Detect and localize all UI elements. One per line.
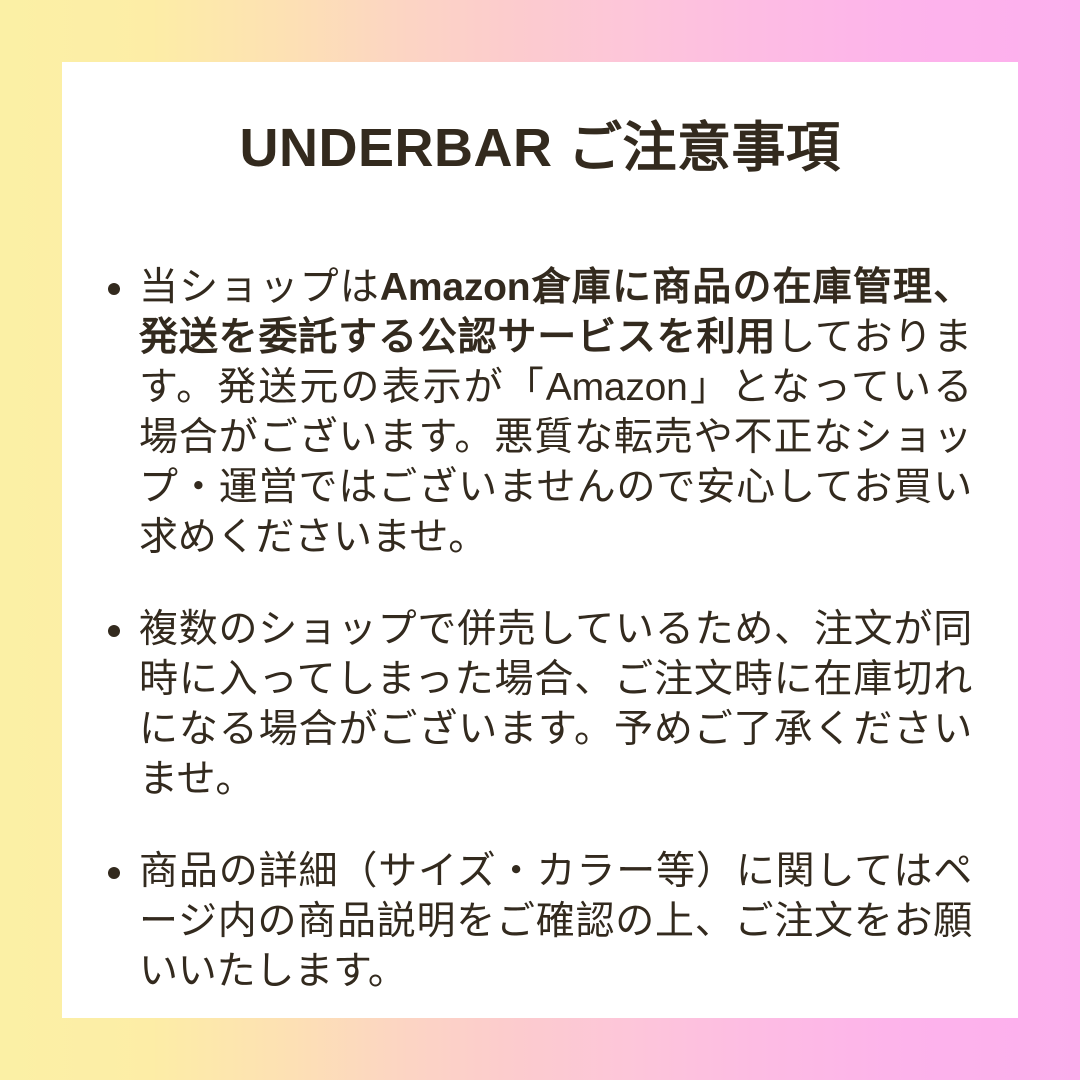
notice-card: UNDERBAR ご注意事項 当ショップはAmazon倉庫に商品の在庫管理、発送…	[62, 62, 1018, 1018]
bullet-dot-icon	[108, 283, 120, 295]
notice-text: 商品の詳細（サイズ・カラー等）に関してはページ内の商品説明をご確認の上、ご注文を…	[139, 847, 972, 997]
list-item: 複数のショップで併売しているため、注文が同時に入ってしまった場合、ご注文時に在庫…	[108, 605, 972, 805]
notice-text: 当ショップはAmazon倉庫に商品の在庫管理、発送を委託する公認サービスを利用し…	[139, 263, 972, 563]
page-title: UNDERBAR ご注意事項	[62, 62, 1018, 178]
list-item: 当ショップはAmazon倉庫に商品の在庫管理、発送を委託する公認サービスを利用し…	[108, 263, 972, 563]
notice-text-segment: 複数のショップで併売しているため、注文が同時に入ってしまった場合、ご注文時に在庫…	[139, 608, 972, 801]
bullet-dot-icon	[108, 625, 120, 637]
list-item: 商品の詳細（サイズ・カラー等）に関してはページ内の商品説明をご確認の上、ご注文を…	[108, 847, 972, 997]
notice-text: 複数のショップで併売しているため、注文が同時に入ってしまった場合、ご注文時に在庫…	[139, 605, 972, 805]
notice-text-segment: 当ショップは	[139, 266, 380, 309]
notice-text-segment: 商品の詳細（サイズ・カラー等）に関してはページ内の商品説明をご確認の上、ご注文を…	[139, 850, 972, 993]
notice-list: 当ショップはAmazon倉庫に商品の在庫管理、発送を委託する公認サービスを利用し…	[62, 263, 1018, 997]
bullet-dot-icon	[108, 867, 120, 879]
